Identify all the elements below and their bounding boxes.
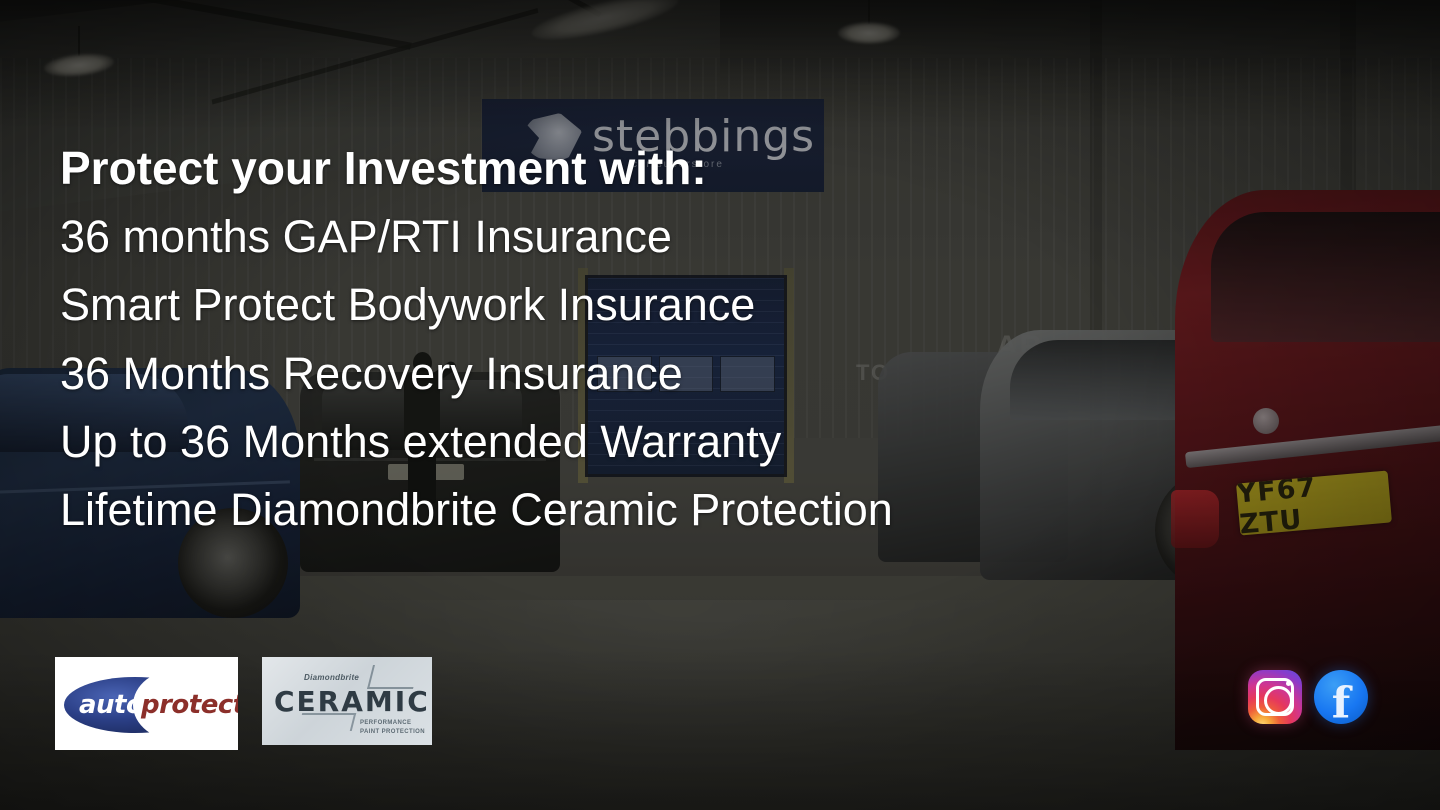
benefit-line-2: Smart Protect Bodywork Insurance (60, 271, 1300, 339)
autoprotect-logo: auto protect (55, 657, 238, 750)
slide-canvas: stebbings car superstore AR TO (0, 0, 1440, 810)
benefit-line-5: Lifetime Diamondbrite Ceramic Protection (60, 476, 1300, 544)
benefit-line-4: Up to 36 Months extended Warranty (60, 408, 1300, 476)
social-links: f (1248, 670, 1368, 724)
instagram-icon[interactable] (1248, 670, 1302, 724)
benefit-line-3: 36 Months Recovery Insurance (60, 340, 1300, 408)
autoprotect-word-auto: auto (79, 690, 143, 720)
ceramic-word-text: CERAMIC (274, 685, 430, 718)
benefit-line-1: 36 months GAP/RTI Insurance (60, 203, 1300, 271)
ceramic-tagline-line-2: PAINT PROTECTION (360, 728, 425, 737)
page-title: Protect your Investment with: (60, 138, 1300, 199)
slide-copy: Protect your Investment with: 36 months … (60, 138, 1300, 545)
ceramic-tagline-line-1: PERFORMANCE (360, 719, 425, 728)
ceramic-tagline: PERFORMANCE PAINT PROTECTION (360, 719, 425, 737)
autoprotect-word-protect: protect (141, 690, 238, 720)
facebook-glyph: f (1314, 683, 1368, 726)
instagram-lens (1264, 686, 1293, 715)
diamondbrite-ceramic-logo: Diamondbrite CERAMIC PERFORMANCE PAINT P… (262, 657, 432, 745)
instagram-dot (1286, 681, 1291, 686)
facebook-icon[interactable]: f (1314, 670, 1368, 724)
diamondbrite-brand-text: Diamondbrite (304, 673, 359, 682)
partner-logo-row: auto protect Diamondbrite CERAMIC PERFOR… (55, 657, 432, 750)
